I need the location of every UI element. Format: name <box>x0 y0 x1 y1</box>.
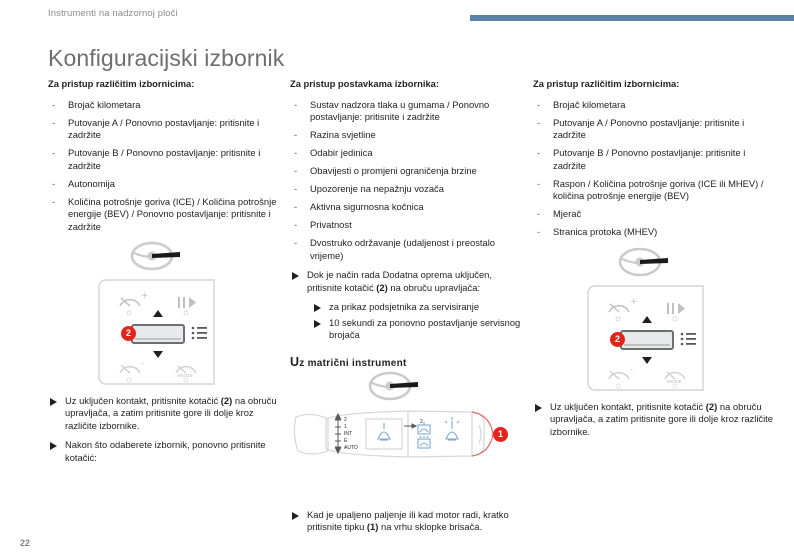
instruction-item: Nakon što odaberete izbornik, ponovno pr… <box>48 439 280 464</box>
svg-text:+: + <box>630 297 638 307</box>
instruction-text: Kad je upaljeno paljenje ili kad motor r… <box>307 509 509 533</box>
list-item: Brojač kilometara <box>48 99 280 112</box>
steering-wheel-icon <box>130 241 182 271</box>
instruction-text: Nakon što odaberete izbornik, ponovno pr… <box>65 439 266 463</box>
list-item: Raspon / Količina potrošnje goriva (ICE … <box>533 178 773 203</box>
svg-text:+: + <box>141 291 149 301</box>
list-item: Putovanje B / Ponovno postavljanje: prit… <box>533 147 773 172</box>
column-right-intro: Za pristup različitim izbornicima: <box>533 78 773 90</box>
svg-text:-: - <box>630 365 633 375</box>
list-item: Brojač kilometara <box>533 99 773 112</box>
column-middle: Za pristup postavkama izbornika: Sustav … <box>290 78 522 541</box>
column-left-menu-list: Brojač kilometara Putovanje A / Ponovno … <box>48 99 280 234</box>
control-panel-outline: + <box>96 277 218 387</box>
figure-steering-wheel-controls-right: + <box>533 245 773 395</box>
list-item: Putovanje A / Ponovno postavljanje: prit… <box>48 117 280 142</box>
column-middle-instructions: Dok je način rada Dodatna oprema uključe… <box>290 269 522 294</box>
wiper-stalk-drawing: 2 1 INT E AUTO <box>290 399 522 469</box>
column-right-instructions: Uz uključen kontakt, pritisnite kotačić … <box>533 401 773 439</box>
callout-badge-2: 2 <box>610 332 625 347</box>
svg-text:INT: INT <box>344 431 352 437</box>
column-middle-intro: Za pristup postavkama izbornika: <box>290 78 522 90</box>
column-left: Za pristup različitim izbornicima: Broja… <box>48 78 280 471</box>
page-number: 22 <box>20 538 30 548</box>
column-right: Za pristup različitim izbornicima: Broja… <box>533 78 773 445</box>
svg-text:MODE: MODE <box>667 379 682 384</box>
control-panel-outline: + <box>585 283 707 393</box>
list-item: Stranica protoka (MHEV) <box>533 226 773 239</box>
column-right-menu-list: Brojač kilometara Putovanje A / Ponovno … <box>533 99 773 239</box>
svg-text:2: 2 <box>344 417 347 423</box>
list-item: Obavijesti o promjeni ograničenja brzine <box>290 165 522 178</box>
list-item: Putovanje A / Ponovno postavljanje: prit… <box>533 117 773 142</box>
wiper-stalk-illustration: 2 1 INT E AUTO <box>290 399 522 469</box>
instruction-text: Uz uključen kontakt, pritisnite kotačić … <box>550 401 773 437</box>
list-item: Odabir jedinica <box>290 147 522 160</box>
section-heading-smallcaps: z matrični instrument <box>299 358 406 369</box>
steering-wheel-control-panel-right: + <box>585 283 707 393</box>
list-item: Autonomija <box>48 178 280 191</box>
callout-badge-1: 1 <box>493 427 508 442</box>
instruction-item: Dok je način rada Dodatna oprema uključe… <box>290 269 522 294</box>
svg-text:-: - <box>141 359 144 369</box>
svg-text:E: E <box>344 438 348 444</box>
page-title: Konfiguracijski izbornik <box>48 45 284 72</box>
column-left-instructions: Uz uključen kontakt, pritisnite kotačić … <box>48 395 280 465</box>
list-item: Privatnost <box>290 219 522 232</box>
svg-text:1: 1 <box>344 424 347 430</box>
steering-wheel-icon <box>368 371 420 401</box>
list-item: Upozorenje na nepažnju vozača <box>290 183 522 196</box>
list-item: Aktivna sigurnosna kočnica <box>290 201 522 214</box>
instruction-item: Kad je upaljeno paljenje ili kad motor r… <box>290 509 522 534</box>
svg-text:2: 2 <box>420 419 423 425</box>
sub-instruction-item: za prikaz podsjetnika za servisiranje <box>312 301 522 314</box>
column-middle-bottom-instruction: Kad je upaljeno paljenje ili kad motor r… <box>290 509 522 534</box>
list-item: Količina potrošnje goriva (ICE) / Količi… <box>48 196 280 234</box>
column-middle-sub-instructions: za prikaz podsjetnika za servisiranje 10… <box>312 301 522 342</box>
list-item: Putovanje B / Ponovno postavljanje: prit… <box>48 147 280 172</box>
figure-wiper-stalk: 2 1 INT E AUTO <box>290 371 522 481</box>
figure-steering-wheel-controls-left: + <box>48 239 280 389</box>
instruction-text: Uz uključen kontakt, pritisnite kotačić … <box>65 395 277 431</box>
svg-text:AUTO: AUTO <box>344 445 358 451</box>
list-item: Razina svjetline <box>290 129 522 142</box>
breadcrumb: Instrumenti na nadzornoj ploči <box>48 8 178 19</box>
steering-wheel-icon <box>618 247 670 277</box>
list-item: Sustav nadzora tlaka u gumama / Ponovno … <box>290 99 522 124</box>
section-heading-capital: U <box>290 355 299 369</box>
instruction-text: Dok je način rada Dodatna oprema uključe… <box>307 269 492 293</box>
list-item: Mjerač <box>533 208 773 221</box>
windscreen-wiper-icon <box>378 423 390 440</box>
header-accent-rule <box>470 15 794 21</box>
svg-text:MODE: MODE <box>178 373 193 378</box>
list-item: Dvostruko održavanje (udaljenost i preos… <box>290 237 522 262</box>
callout-badge-2: 2 <box>121 326 136 341</box>
column-middle-settings-list: Sustav nadzora tlaka u gumama / Ponovno … <box>290 99 522 263</box>
section-heading-matrix-instrument: Uz matrični instrument <box>290 355 522 369</box>
instruction-item: Uz uključen kontakt, pritisnite kotačić … <box>533 401 773 439</box>
column-left-intro: Za pristup različitim izbornicima: <box>48 78 280 90</box>
instruction-item: Uz uključen kontakt, pritisnite kotačić … <box>48 395 280 433</box>
steering-wheel-control-panel-left: + <box>96 277 218 387</box>
sub-instruction-item: 10 sekundi za ponovno postavljanje servi… <box>312 317 522 342</box>
